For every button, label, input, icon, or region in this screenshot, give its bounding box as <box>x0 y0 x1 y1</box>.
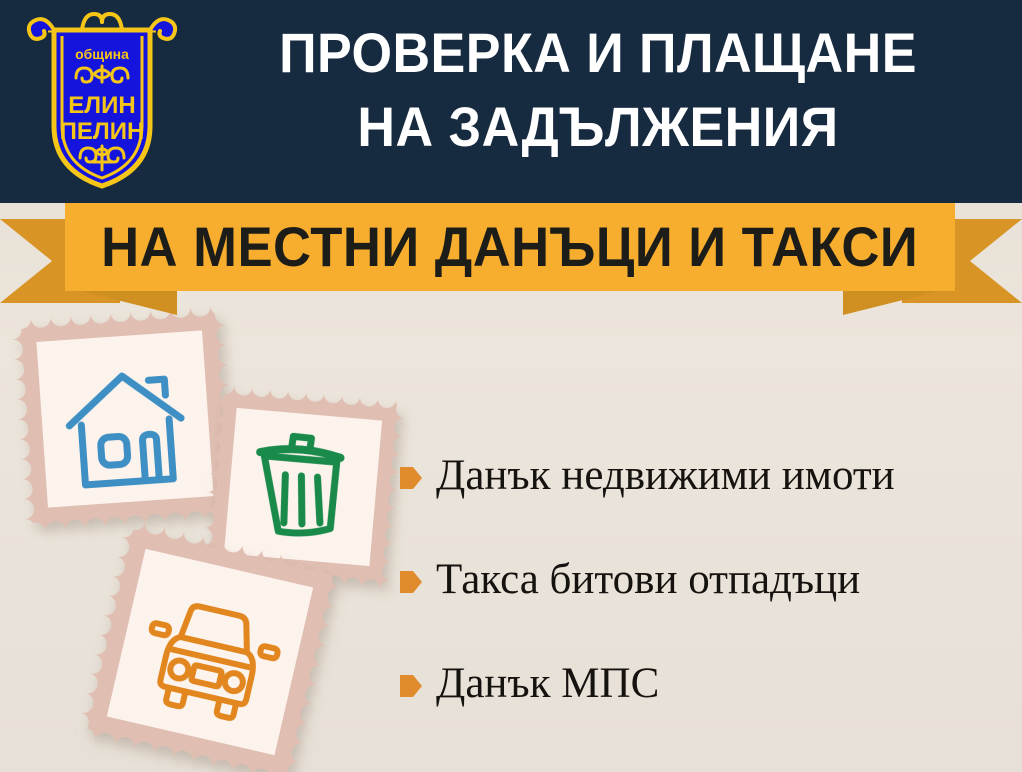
list-item[interactable]: Данък недвижими имоти <box>400 424 1012 528</box>
list-item[interactable]: Такса битови отпадъци <box>400 528 1012 632</box>
bullet-arrow-icon <box>400 673 422 699</box>
municipality-crest-logo: община ЕЛИН ПЕЛИН <box>22 8 182 194</box>
poster-root: община ЕЛИН ПЕЛИН <box>0 0 1022 772</box>
poster-title: ПРОВЕРКА И ПЛАЩАНЕ НА ЗАДЪЛЖЕНИЯ <box>186 16 1010 164</box>
list-item-label: Данък недвижими имоти <box>436 451 895 501</box>
list-item[interactable]: Данък МПС <box>400 632 1012 736</box>
list-item-label: Данък МПС <box>436 659 659 709</box>
ribbon-label: НА МЕСТНИ ДАНЪЦИ И ТАКСИ <box>101 219 918 275</box>
subtitle-ribbon: НА МЕСТНИ ДАНЪЦИ И ТАКСИ <box>0 203 1022 313</box>
title-line-2: НА ЗАДЪЛЖЕНИЯ <box>215 90 981 164</box>
crest-line-1: община <box>75 46 129 62</box>
title-line-1: ПРОВЕРКА И ПЛАЩАНЕ <box>215 16 981 90</box>
crest-svg: община ЕЛИН ПЕЛИН <box>22 8 182 194</box>
crest-line-3: ПЕЛИН <box>60 118 145 145</box>
tax-types-list: Данък недвижими имоти Такса битови отпад… <box>400 424 1012 736</box>
list-item-label: Такса битови отпадъци <box>436 555 860 605</box>
ribbon-band: НА МЕСТНИ ДАНЪЦИ И ТАКСИ <box>65 203 955 291</box>
crest-line-2: ЕЛИН <box>68 92 135 119</box>
stamp-house-svg <box>11 305 239 533</box>
bullet-arrow-icon <box>400 569 422 595</box>
bullet-arrow-icon <box>400 465 422 491</box>
header-bar: община ЕЛИН ПЕЛИН <box>0 0 1022 203</box>
stamp-house <box>11 305 239 533</box>
